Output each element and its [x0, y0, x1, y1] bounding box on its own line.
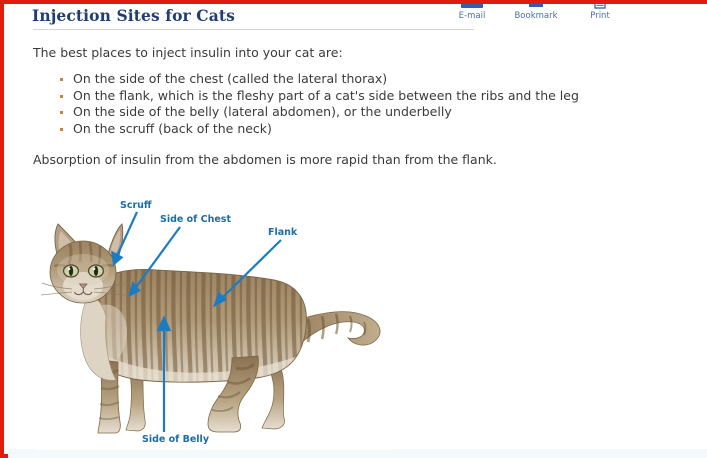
print-button[interactable]: Print — [575, 4, 625, 21]
email-label: E-mail — [447, 11, 497, 21]
print-label: Print — [575, 11, 625, 21]
email-icon — [447, 4, 497, 10]
bookmark-icon — [511, 4, 561, 10]
email-button[interactable]: E-mail — [447, 4, 497, 21]
title-divider — [33, 29, 474, 30]
cat-diagram: Scruff Side of Chest Flank Side of Belly — [36, 200, 392, 450]
figure-label-scruff: Scruff — [120, 200, 152, 211]
page-content: Injection Sites for Cats E-mail — [8, 4, 707, 458]
list-item: On the flank, which is the fleshy part o… — [56, 88, 579, 105]
figure-label-flank: Flank — [268, 227, 297, 238]
absorption-note: Absorption of insulin from the abdomen i… — [33, 152, 497, 168]
bookmark-label: Bookmark — [511, 11, 561, 21]
cat-illustration — [36, 200, 392, 450]
page-header: Injection Sites for Cats E-mail — [8, 4, 707, 38]
figure-label-side-of-belly: Side of Belly — [142, 434, 209, 445]
page-border: Injection Sites for Cats E-mail — [0, 0, 707, 458]
list-item: On the side of the chest (called the lat… — [56, 71, 579, 88]
list-item: On the side of the belly (lateral abdome… — [56, 104, 579, 121]
bookmark-button[interactable]: Bookmark — [511, 4, 561, 21]
list-item: On the scruff (back of the neck) — [56, 121, 579, 138]
tool-links: E-mail Bookmark — [447, 4, 625, 21]
injection-sites-list: On the side of the chest (called the lat… — [56, 71, 579, 137]
page-title: Injection Sites for Cats — [32, 6, 235, 25]
print-icon — [575, 4, 625, 10]
intro-paragraph: The best places to inject insulin into y… — [33, 45, 343, 61]
figure-label-side-of-chest: Side of Chest — [160, 214, 231, 225]
bottom-wash — [8, 449, 707, 458]
